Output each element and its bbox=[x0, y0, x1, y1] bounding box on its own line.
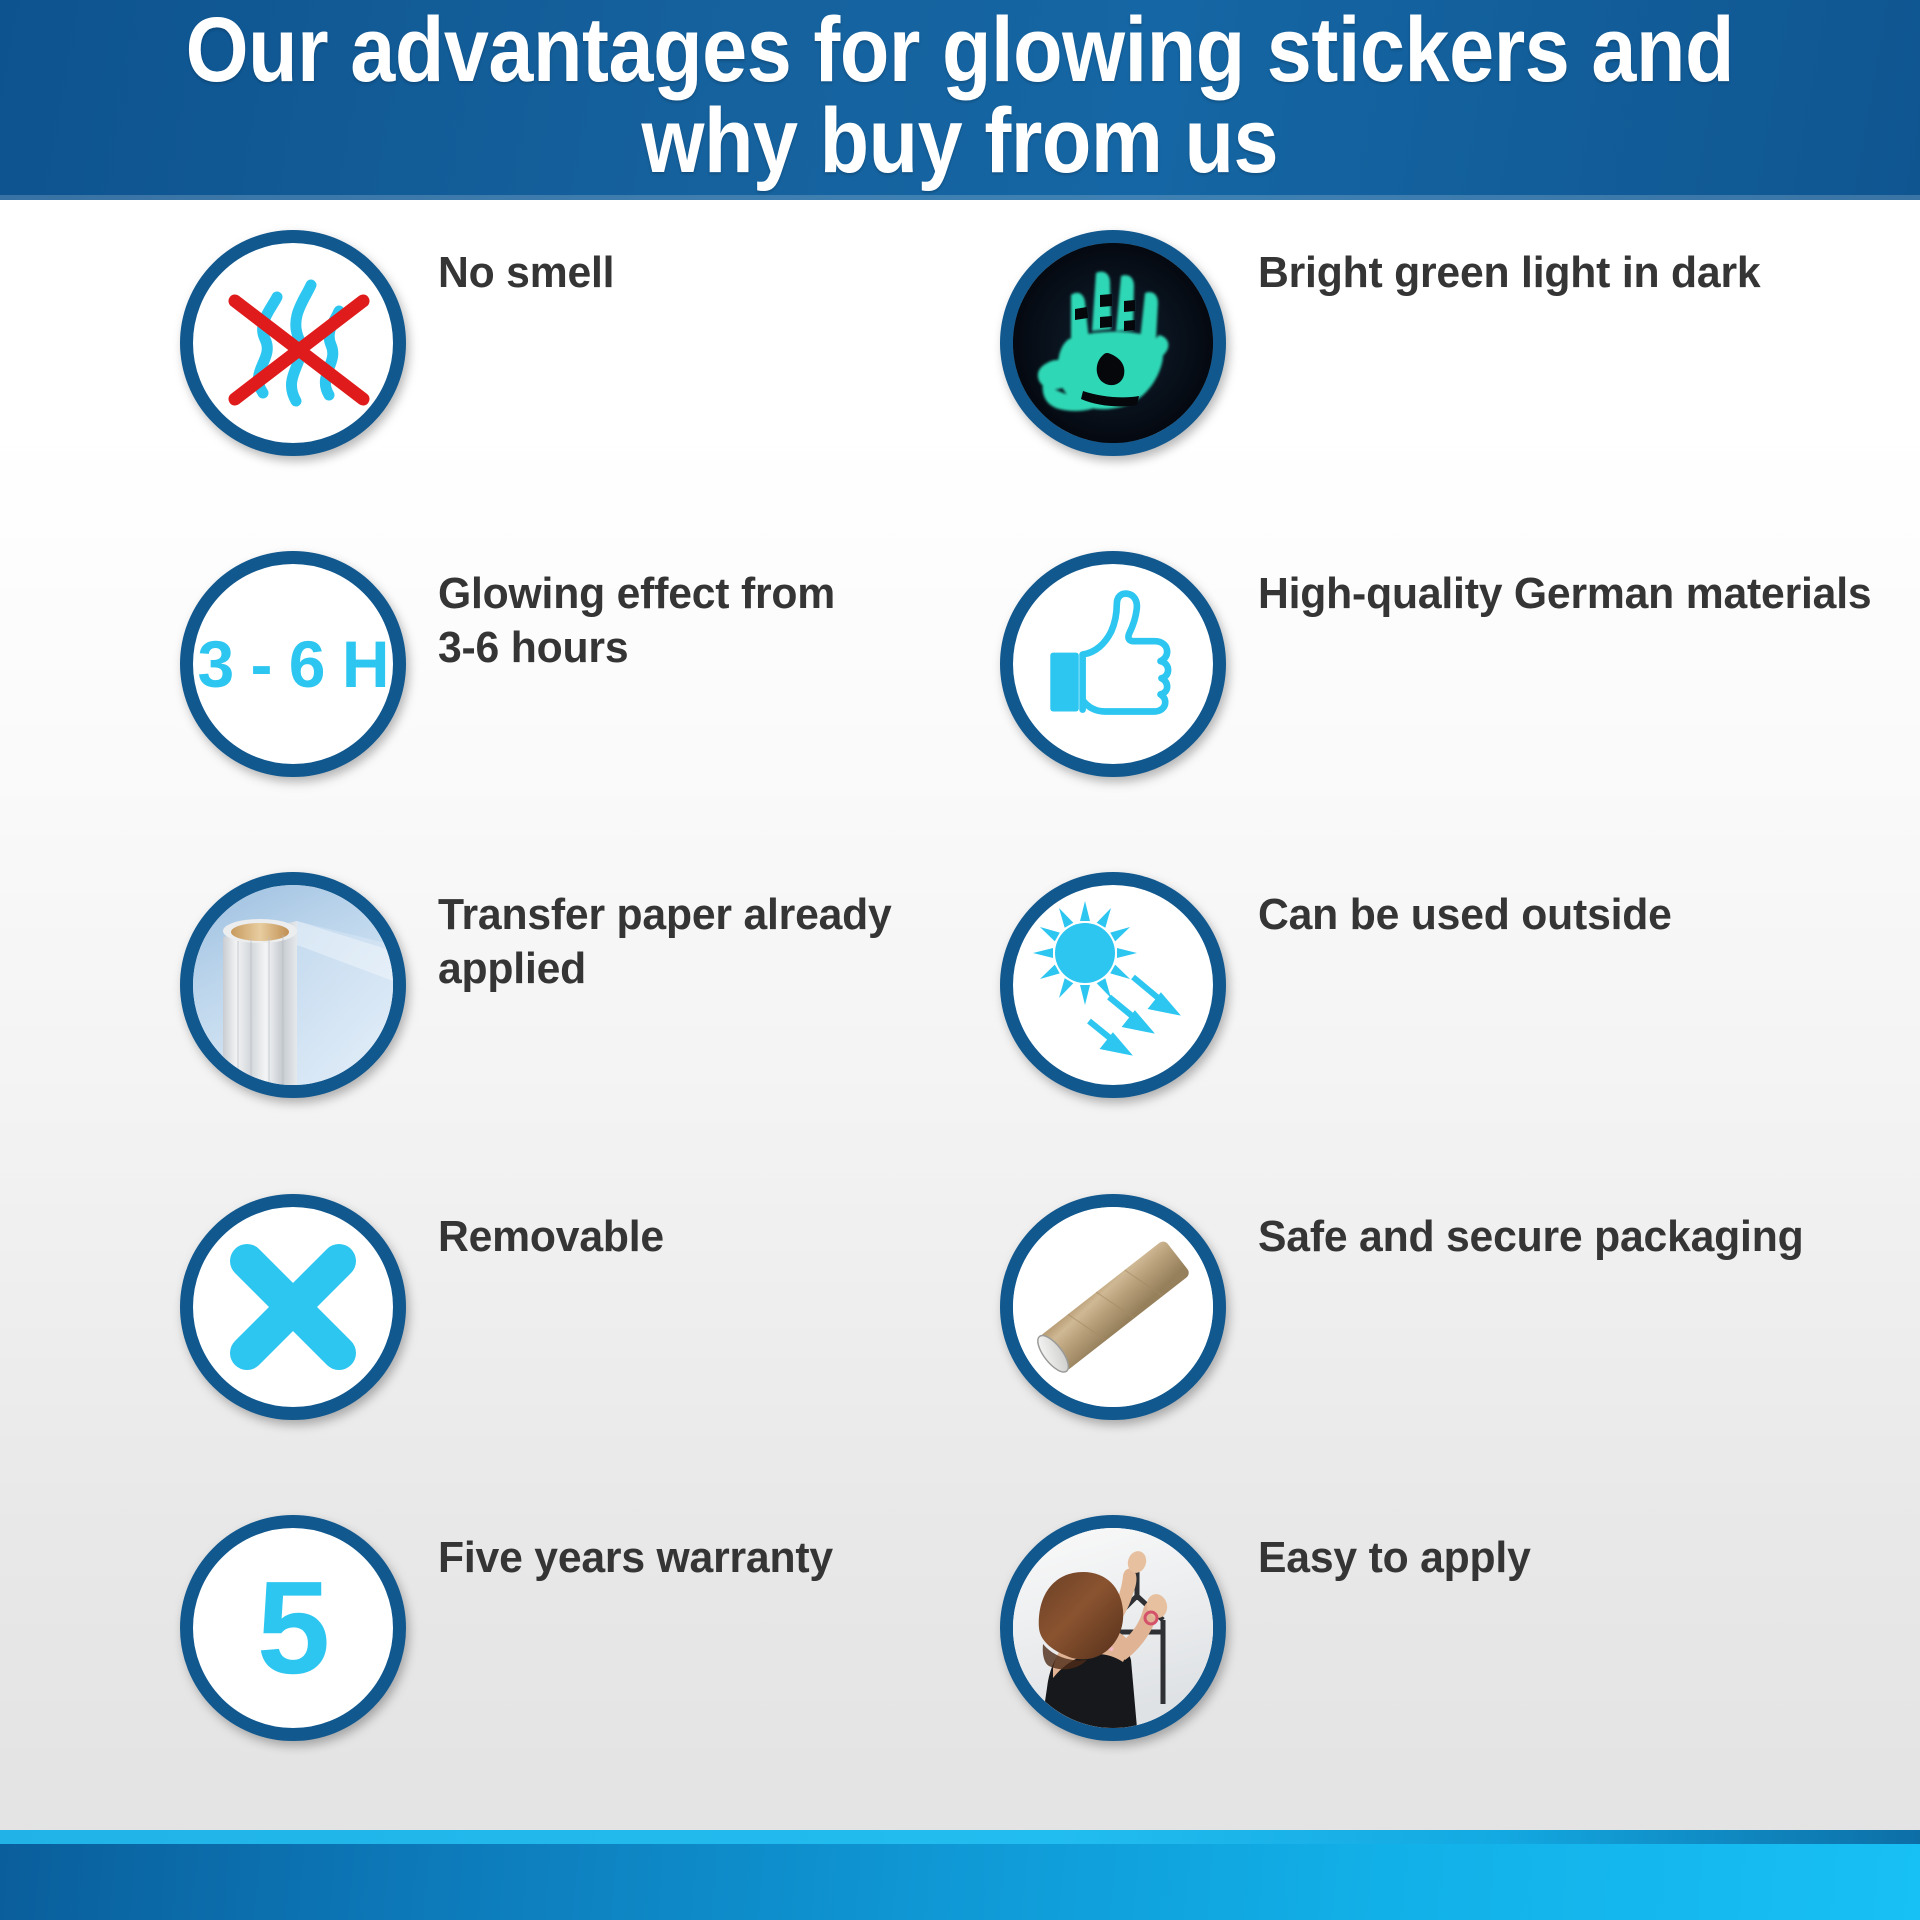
footer-bar bbox=[0, 1830, 1920, 1920]
feature-item-five-years-warranty: 5 Five years warranty bbox=[0, 1509, 960, 1830]
feature-label: Glowing effect from 3-6 hours bbox=[438, 545, 835, 674]
feature-item-removable: Removable bbox=[0, 1188, 960, 1509]
sun-with-rays-icon bbox=[1000, 872, 1226, 1098]
glowing-handprint-icon-art bbox=[1013, 243, 1213, 443]
transfer-paper-roll-icon bbox=[180, 872, 406, 1098]
features-grid: No smell bbox=[0, 200, 1920, 1830]
feature-label: High-quality German materials bbox=[1258, 545, 1871, 621]
feature-item-safe-packaging: Safe and secure packaging bbox=[960, 1188, 1920, 1509]
page-title: Our advantages for glowing stickers and … bbox=[186, 5, 1734, 187]
thumbs-up-icon-art bbox=[1018, 569, 1208, 759]
feature-item-transfer-paper: Transfer paper already applied bbox=[0, 866, 960, 1187]
mailing-tube-icon bbox=[1000, 1194, 1226, 1420]
mailing-tube-icon-art bbox=[1013, 1207, 1213, 1407]
feature-label: Bright green light in dark bbox=[1258, 224, 1760, 300]
woman-applying-decal-icon-art bbox=[1013, 1528, 1213, 1728]
feature-item-no-smell: No smell bbox=[0, 224, 960, 545]
feature-item-used-outside: Can be used outside bbox=[960, 866, 1920, 1187]
feature-item-glowing-effect-hours: 3 - 6 H Glowing effect from 3-6 hours bbox=[0, 545, 960, 866]
feature-label: Safe and secure packaging bbox=[1258, 1188, 1803, 1264]
header-banner: Our advantages for glowing stickers and … bbox=[0, 0, 1920, 200]
woman-applying-decal-icon bbox=[1000, 1515, 1226, 1741]
thumbs-up-icon bbox=[1000, 551, 1226, 777]
feature-label: Removable bbox=[438, 1188, 664, 1264]
hours-text-icon: 3 - 6 H bbox=[180, 551, 406, 777]
footer-accent-strip bbox=[0, 1830, 1920, 1844]
feature-item-easy-to-apply: Easy to apply bbox=[960, 1509, 1920, 1830]
feature-label: Easy to apply bbox=[1258, 1509, 1531, 1585]
number-five-icon: 5 bbox=[180, 1515, 406, 1741]
cross-x-icon bbox=[180, 1194, 406, 1420]
transfer-paper-roll-icon-art bbox=[193, 885, 393, 1085]
no-smell-icon bbox=[180, 230, 406, 456]
feature-label: Five years warranty bbox=[438, 1509, 833, 1585]
sun-with-rays-icon-art bbox=[1013, 885, 1213, 1085]
hours-text-icon-label: 3 - 6 H bbox=[197, 631, 388, 697]
footer-gradient-bar bbox=[0, 1844, 1920, 1920]
feature-label: Can be used outside bbox=[1258, 866, 1672, 942]
number-five-icon-label: 5 bbox=[257, 1562, 329, 1694]
feature-item-german-materials: High-quality German materials bbox=[960, 545, 1920, 866]
glowing-handprint-icon bbox=[1000, 230, 1226, 456]
cross-x-icon-art bbox=[193, 1207, 393, 1407]
feature-item-bright-green-light: Bright green light in dark bbox=[960, 224, 1920, 545]
feature-label: No smell bbox=[438, 224, 614, 300]
no-smell-icon-art bbox=[193, 243, 393, 443]
feature-label: Transfer paper already applied bbox=[438, 866, 892, 995]
